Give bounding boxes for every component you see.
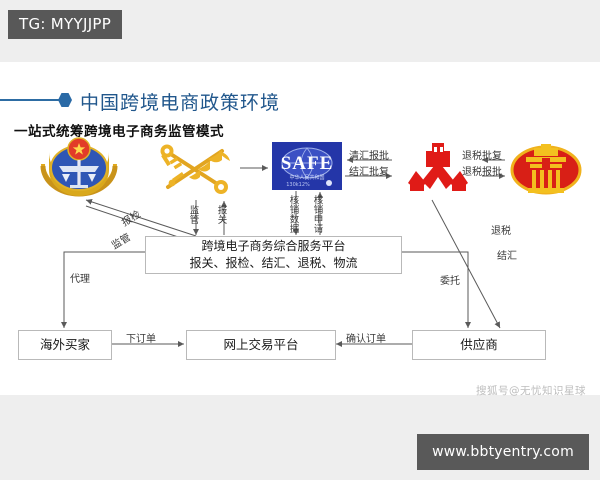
edge-label-tuishui: 退税 xyxy=(491,222,511,237)
node-overseas-buyer[interactable]: 海外买家 xyxy=(18,330,112,360)
node-comprehensive-service-platform[interactable]: 跨境电子商务综合服务平台 报关、报检、结汇、退税、物流 xyxy=(145,236,402,274)
source-watermark: 搜狐号@无忧知识星球 xyxy=(476,383,586,398)
edge-label-tuishui-pifu: 退税批复 xyxy=(462,147,502,162)
edge-label-jiehui: 结汇 xyxy=(497,247,517,262)
edge-label-baoguan: 报关 xyxy=(216,205,226,224)
node-online-trading-platform[interactable]: 网上交易平台 xyxy=(186,330,336,360)
node-supplier[interactable]: 供应商 xyxy=(412,330,546,360)
edge-label-daili: 代理 xyxy=(70,270,90,285)
edge-label-qinghui-pizhun: 清汇报批 xyxy=(349,147,389,162)
edge-label-weituo: 委托 xyxy=(440,272,460,287)
edge-label-hexiao-shuju: 核销数据 xyxy=(288,195,298,233)
platform-line-2: 报关、报检、结汇、退税、物流 xyxy=(189,255,357,272)
edge-label-jiehui-pifu: 结汇批复 xyxy=(349,163,389,178)
edge-label-querendingdan: 确认订单 xyxy=(346,330,386,345)
edge-label-tuishui-baopi: 退税报批 xyxy=(462,163,502,178)
platform-line-1: 跨境电子商务综合服务平台 xyxy=(201,238,345,255)
site-url-badge: www.bbtyentry.com xyxy=(417,434,589,470)
edge-label-jianguan-vertical: 监管 xyxy=(188,205,198,224)
edge-label-hexiao-shenqing: 核销申请 xyxy=(312,195,322,233)
edge-label-xiadingdan: 下订单 xyxy=(126,330,156,345)
